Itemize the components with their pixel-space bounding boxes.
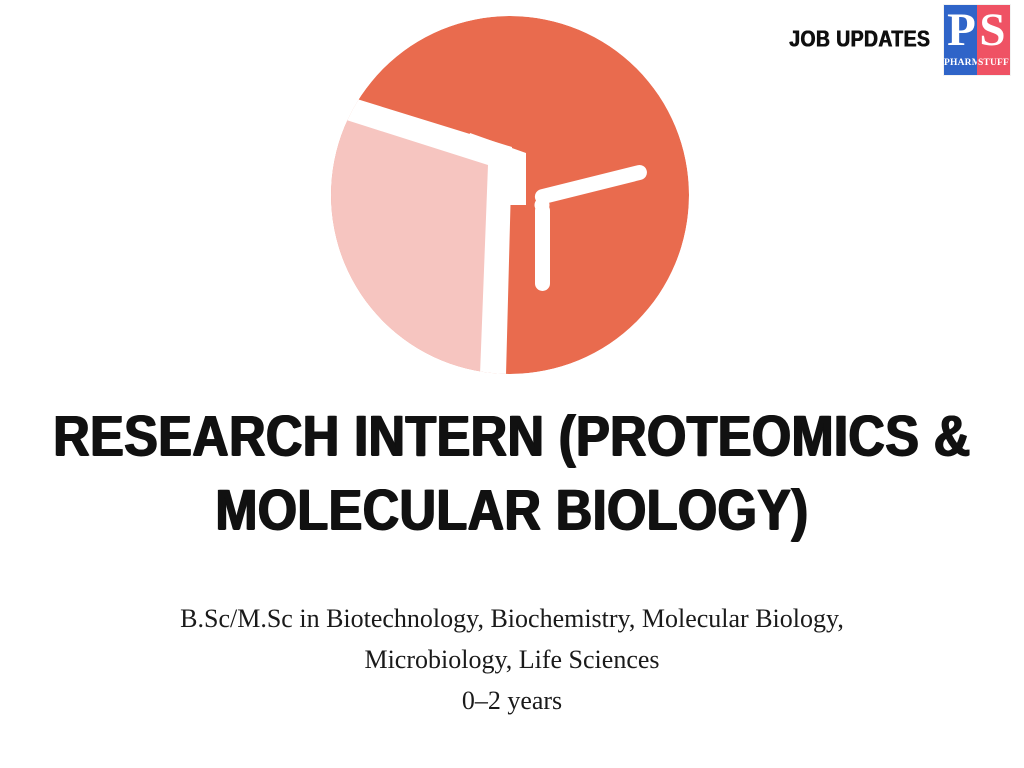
circle-cube-emblem xyxy=(330,15,690,375)
logo-letter-p: P xyxy=(946,7,977,54)
circle-cube-icon xyxy=(330,15,690,375)
page-title: RESEARCH INTERN (PROTEOMICS & MOLECULAR … xyxy=(0,400,1024,548)
qualification-line-1: B.Sc/M.Sc in Biotechnology, Biochemistry… xyxy=(0,598,1024,639)
experience-line: 0–2 years xyxy=(0,680,1024,721)
emblem-gamma-vertical xyxy=(535,203,550,291)
job-poster: JOB UPDATES P PHARMA S STUFF xyxy=(0,0,1024,768)
qualification-block: B.Sc/M.Sc in Biotechnology, Biochemistry… xyxy=(0,598,1024,721)
logo-right-half: S STUFF xyxy=(977,5,1010,75)
header-branding: JOB UPDATES P PHARMA S STUFF xyxy=(777,0,1010,80)
logo-word-stuff: STUFF xyxy=(977,58,1010,68)
qualification-line-2: Microbiology, Life Sciences xyxy=(0,639,1024,680)
emblem-gamma-corner xyxy=(535,198,550,213)
job-updates-label: JOB UPDATES xyxy=(789,27,930,54)
pharma-stuff-logo[interactable]: P PHARMA S STUFF xyxy=(944,5,1010,75)
logo-left-half: P PHARMA xyxy=(944,5,977,75)
title-line-2: MOLECULAR BIOLOGY) xyxy=(26,471,999,551)
logo-letter-s: S xyxy=(977,7,1008,54)
title-line-1: RESEARCH INTERN (PROTEOMICS & xyxy=(26,397,999,477)
logo-word-pharma: PHARMA xyxy=(944,58,977,68)
